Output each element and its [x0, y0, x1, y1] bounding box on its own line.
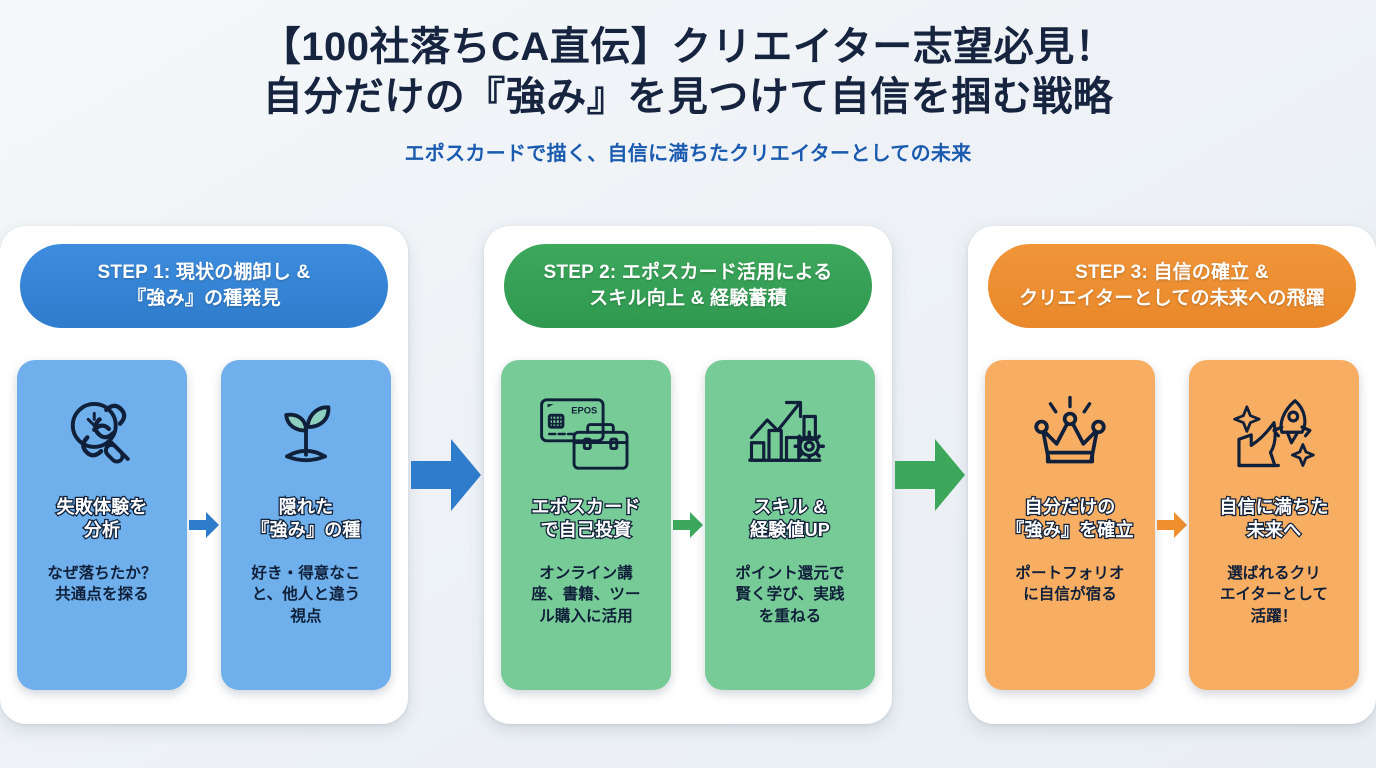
mini-arrow-step1 — [187, 510, 221, 540]
step-panel-1: STEP 1: 現状の棚卸し & 『強み』の種発見 — [0, 226, 408, 724]
step-1-cards: 失敗体験を 分析 なぜ落ちたか？ 共通点を探る — [16, 348, 392, 702]
card-description: 好き・得意なこ と、他人と違う 視点 — [251, 563, 360, 627]
card-skill-experience-up[interactable]: スキル & 経験値UP ポイント還元で 賢く学び、実践 を重ねる — [705, 360, 875, 690]
card-title: 失敗体験を 分析 — [57, 496, 148, 543]
epos-card-briefcase-icon: EPOS — [536, 376, 636, 492]
growth-chart-gear-icon — [744, 376, 836, 492]
card-title-line-1: スキル & — [750, 496, 830, 519]
epos-card-label: EPOS — [571, 405, 597, 416]
card-hidden-strength-seed[interactable]: 隠れた 『強み』の種 好き・得意なこ と、他人と違う 視点 — [221, 360, 391, 690]
card-description: ポイント還元で 賢く学び、実践 を重ねる — [735, 563, 844, 627]
card-description: 選ばれるクリ エイターとして 活躍！ — [1220, 563, 1328, 627]
card-desc-line-2: 座、書籍、ツー — [531, 584, 640, 605]
card-title: 隠れた 『強み』の種 — [251, 496, 360, 543]
card-establish-strength[interactable]: 自分だけの 『強み』を確立 ポートフォリオ に自信が宿る — [985, 360, 1155, 690]
card-desc-line-1: ポートフォリオ — [1015, 563, 1124, 584]
card-title-line-2: 『強み』の種 — [251, 519, 360, 542]
step-1-header-line-1: STEP 1: 現状の棚卸し & — [98, 260, 311, 286]
step-3-cards: 自分だけの 『強み』を確立 ポートフォリオ に自信が宿る — [984, 348, 1360, 702]
card-title-line-2: 経験値UP — [750, 519, 830, 542]
card-desc-line-1: ポイント還元で — [735, 563, 844, 584]
card-confident-future[interactable]: 自信に満ちた 未来へ 選ばれるクリ エイターとして 活躍！ — [1189, 360, 1359, 690]
card-title-line-2: で自己投資 — [531, 519, 640, 542]
card-desc-line-1: 選ばれるクリ — [1220, 563, 1328, 584]
card-epos-self-investment[interactable]: EPOS エポスカード で自己投資 オンライン講 座、書籍、ツー ル購入に活 — [501, 360, 671, 690]
step-panel-3: STEP 3: 自信の確立 & クリエイターとしての未来への飛躍 — [968, 226, 1376, 724]
card-title-line-1: 自信に満ちた — [1219, 496, 1328, 519]
step-2-header-line-2: スキル向上 & 経験蓄積 — [544, 286, 833, 312]
mini-arrow-step3 — [1155, 510, 1189, 540]
step-panel-2: STEP 2: エポスカード活用による スキル向上 & 経験蓄積 EPOS — [484, 226, 892, 724]
magnifier-broken-chain-icon — [59, 376, 145, 492]
card-desc-line-2: に自信が宿る — [1015, 584, 1124, 605]
card-desc-line-2: 賢く学び、実践 — [735, 584, 844, 605]
step-2-cards: EPOS エポスカード で自己投資 オンライン講 座、書籍、ツー ル購入に活 — [500, 348, 876, 702]
step-2-header: STEP 2: エポスカード活用による スキル向上 & 経験蓄積 — [504, 244, 872, 328]
card-failure-analysis[interactable]: 失敗体験を 分析 なぜ落ちたか？ 共通点を探る — [17, 360, 187, 690]
big-arrow-step2-to-step3 — [892, 435, 968, 515]
card-title-line-1: エポスカード — [531, 496, 640, 519]
card-title-line-1: 隠れた — [251, 496, 360, 519]
page-subtitle: エポスカードで描く、自信に満ちたクリエイターとしての未来 — [0, 137, 1376, 166]
card-title-line-1: 失敗体験を — [57, 496, 148, 519]
card-desc-line-2: と、他人と違う — [251, 584, 360, 605]
step-3-header: STEP 3: 自信の確立 & クリエイターとしての未来への飛躍 — [988, 244, 1356, 328]
card-title-line-1: 自分だけの — [1006, 496, 1133, 519]
step-3-header-line-1: STEP 3: 自信の確立 & — [1019, 260, 1325, 286]
card-desc-line-3: 視点 — [251, 606, 360, 627]
step-1-header: STEP 1: 現状の棚卸し & 『強み』の種発見 — [20, 244, 388, 328]
mini-arrow-step2 — [671, 510, 705, 540]
card-desc-line-1: オンライン講 — [531, 563, 640, 584]
big-arrow-step1-to-step2 — [408, 435, 484, 515]
sprout-icon — [263, 376, 349, 492]
card-desc-line-3: 活躍！ — [1220, 606, 1328, 627]
card-title-line-2: 未来へ — [1219, 519, 1328, 542]
card-title-line-2: 分析 — [57, 519, 148, 542]
step-2-header-line-1: STEP 2: エポスカード活用による — [544, 260, 833, 286]
card-description: なぜ落ちたか？ 共通点を探る — [47, 563, 156, 606]
card-description: ポートフォリオ に自信が宿る — [1015, 563, 1124, 606]
step-1-header-line-2: 『強み』の種発見 — [98, 286, 311, 312]
card-title: スキル & 経験値UP — [750, 496, 830, 543]
steps-flow: STEP 1: 現状の棚卸し & 『強み』の種発見 — [0, 225, 1376, 725]
card-title: エポスカード で自己投資 — [531, 496, 640, 543]
card-desc-line-2: エイターとして — [1220, 584, 1328, 605]
card-desc-line-1: 好き・得意なこ — [251, 563, 360, 584]
card-desc-line-3: を重ねる — [735, 606, 844, 627]
page-title-line-1: 【100社落ちCA直伝】クリエイター志望必見！ — [0, 22, 1376, 72]
page-header: 【100社落ちCA直伝】クリエイター志望必見！ 自分だけの『強み』を見つけて自信… — [0, 0, 1376, 166]
card-description: オンライン講 座、書籍、ツー ル購入に活用 — [531, 563, 640, 627]
page-title-line-2: 自分だけの『強み』を見つけて自信を掴む戦略 — [0, 72, 1376, 122]
card-title: 自分だけの 『強み』を確立 — [1006, 496, 1133, 543]
card-desc-line-3: ル購入に活用 — [531, 606, 640, 627]
card-desc-line-1: なぜ落ちたか？ — [47, 563, 156, 584]
crown-icon — [1025, 376, 1115, 492]
card-title: 自信に満ちた 未来へ — [1219, 496, 1328, 543]
rocket-sparkle-icon — [1228, 376, 1320, 492]
step-3-header-line-2: クリエイターとしての未来への飛躍 — [1019, 286, 1325, 312]
card-desc-line-2: 共通点を探る — [47, 584, 156, 605]
card-title-line-2: 『強み』を確立 — [1006, 519, 1133, 542]
